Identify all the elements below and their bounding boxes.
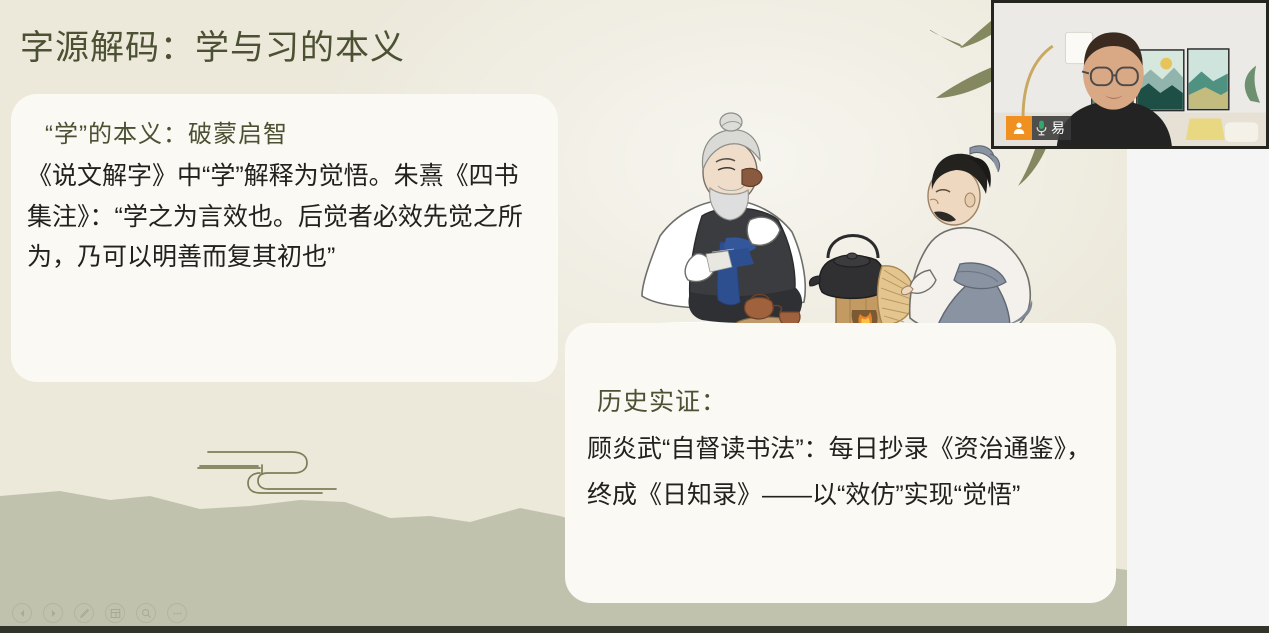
historical-evidence-card: 历史实证： 顾炎武“自督读书法”：每日抄录《资治通鉴》，终成《日知录》——以“效… [565,323,1116,603]
slide-mini-toolbar[interactable] [12,603,187,623]
etymology-card-body: 《说文解字》中“学”解释为觉悟。朱熹《四书集注》：“学之为言效也。后觉者必效先觉… [27,156,543,278]
more-options-icon[interactable] [167,603,187,623]
zoom-magnifier-icon[interactable] [136,603,156,623]
screen: 易 字源解码：学与习的本义 “学”的本义：破蒙启智 《说文解字》中“学”解释为觉… [0,0,1269,633]
historical-evidence-body: 顾炎武“自督读书法”：每日抄录《资治通鉴》，终成《日知录》——以“效仿”实现“觉… [587,427,1097,518]
etymology-card-heading: “学”的本义：破蒙启智 [45,114,288,149]
pen-annotate-icon[interactable] [74,603,94,623]
webcam-pip[interactable]: 易 [991,0,1269,149]
bottom-bar [0,626,1269,633]
microphone-icon [1036,120,1047,136]
historical-evidence-heading: 历史实证： [597,382,727,418]
layout-grid-icon[interactable] [105,603,125,623]
participant-avatar [1006,116,1032,140]
participant-name: 易 [1051,121,1065,135]
page-title: 字源解码：学与习的本义 [20,20,405,69]
elder-scholar-figure [642,113,805,323]
young-student-figure [901,146,1032,334]
participant-info: 易 [1032,116,1071,140]
etymology-card: “学”的本义：破蒙启智 《说文解字》中“学”解释为觉悟。朱熹《四书集注》：“学之… [11,94,558,382]
previous-slide-icon[interactable] [12,603,32,623]
chinese-cloud-motif [140,436,370,508]
pip-badge-group: 易 [1006,116,1071,140]
person-icon [1012,121,1026,135]
next-slide-icon[interactable] [43,603,63,623]
